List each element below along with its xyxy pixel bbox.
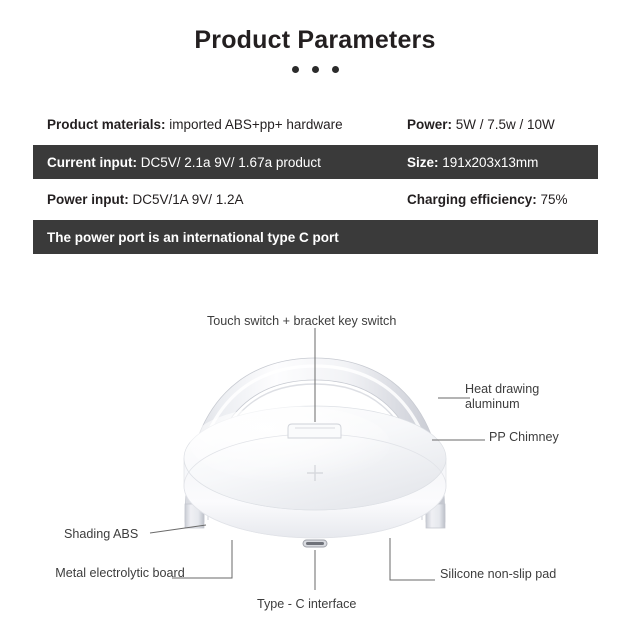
spec-value: DC5V/ 2.1a 9V/ 1.67a product [141, 155, 321, 170]
callout-label-silicone-pad: Silicone non-slip pad [440, 567, 556, 582]
pad-top-sheen [190, 406, 390, 482]
spec-value: DC5V/1A 9V/ 1.2A [133, 192, 244, 207]
callout-label-shading-abs: Shading ABS [64, 527, 138, 542]
spec-row: Current input: DC5V/ 2.1a 9V/ 1.67a prod… [33, 145, 598, 179]
leader-silicone-pad [390, 538, 435, 580]
leader-shading-abs [150, 525, 206, 533]
spec-row: The power port is an international type … [33, 220, 598, 254]
spec-cell-power: Power: 5W / 7.5w / 10W [401, 117, 598, 132]
dot-2 [312, 66, 319, 73]
spec-key: The power port is an international type … [47, 230, 339, 245]
page-title: Product Parameters [0, 26, 630, 55]
spec-key: Charging efficiency: [407, 192, 541, 207]
type-c-port-slot [306, 542, 324, 545]
spec-cell-current-input: Current input: DC5V/ 2.1a 9V/ 1.67a prod… [33, 155, 401, 170]
spec-row: Product materials: imported ABS+pp+ hard… [33, 108, 598, 141]
callout-label-touch-switch: Touch switch + bracket key switch [207, 314, 396, 329]
callout-label-pp-chimney: PP Chimney [489, 430, 559, 445]
spec-cell-size: Size: 191x203x13mm [401, 155, 598, 170]
callout-label-type-c: Type - C interface [257, 597, 356, 612]
spec-key: Power input: [47, 192, 133, 207]
spec-cell-power-port-note: The power port is an international type … [33, 230, 598, 245]
spec-value: 5W / 7.5w / 10W [456, 117, 555, 132]
spec-row: Power input: DC5V/1A 9V/ 1.2A Charging e… [33, 183, 598, 216]
spec-cell-product-materials: Product materials: imported ABS+pp+ hard… [33, 117, 401, 132]
touch-switch-bracket [288, 424, 341, 438]
charging-pad-body [184, 406, 446, 547]
spec-table: Product materials: imported ABS+pp+ hard… [33, 108, 598, 254]
spec-cell-power-input: Power input: DC5V/1A 9V/ 1.2A [33, 192, 401, 207]
spec-key: Power: [407, 117, 456, 132]
spec-key: Current input: [47, 155, 141, 170]
dot-1 [292, 66, 299, 73]
spec-value: 75% [541, 192, 568, 207]
callout-label-metal-board: Metal electrolytic board [55, 566, 185, 581]
spec-value: 191x203x13mm [442, 155, 538, 170]
spec-cell-charging-efficiency: Charging efficiency: 75% [401, 192, 598, 207]
callout-label-heat-aluminum: Heat drawing aluminum [465, 382, 575, 412]
product-parameters-page: Product Parameters Product materials: im… [0, 0, 630, 630]
spec-value: imported ABS+pp+ hardware [169, 117, 342, 132]
spec-key: Product materials: [47, 117, 169, 132]
dot-3 [332, 66, 339, 73]
spec-key: Size: [407, 155, 442, 170]
decorative-dots [0, 66, 630, 73]
